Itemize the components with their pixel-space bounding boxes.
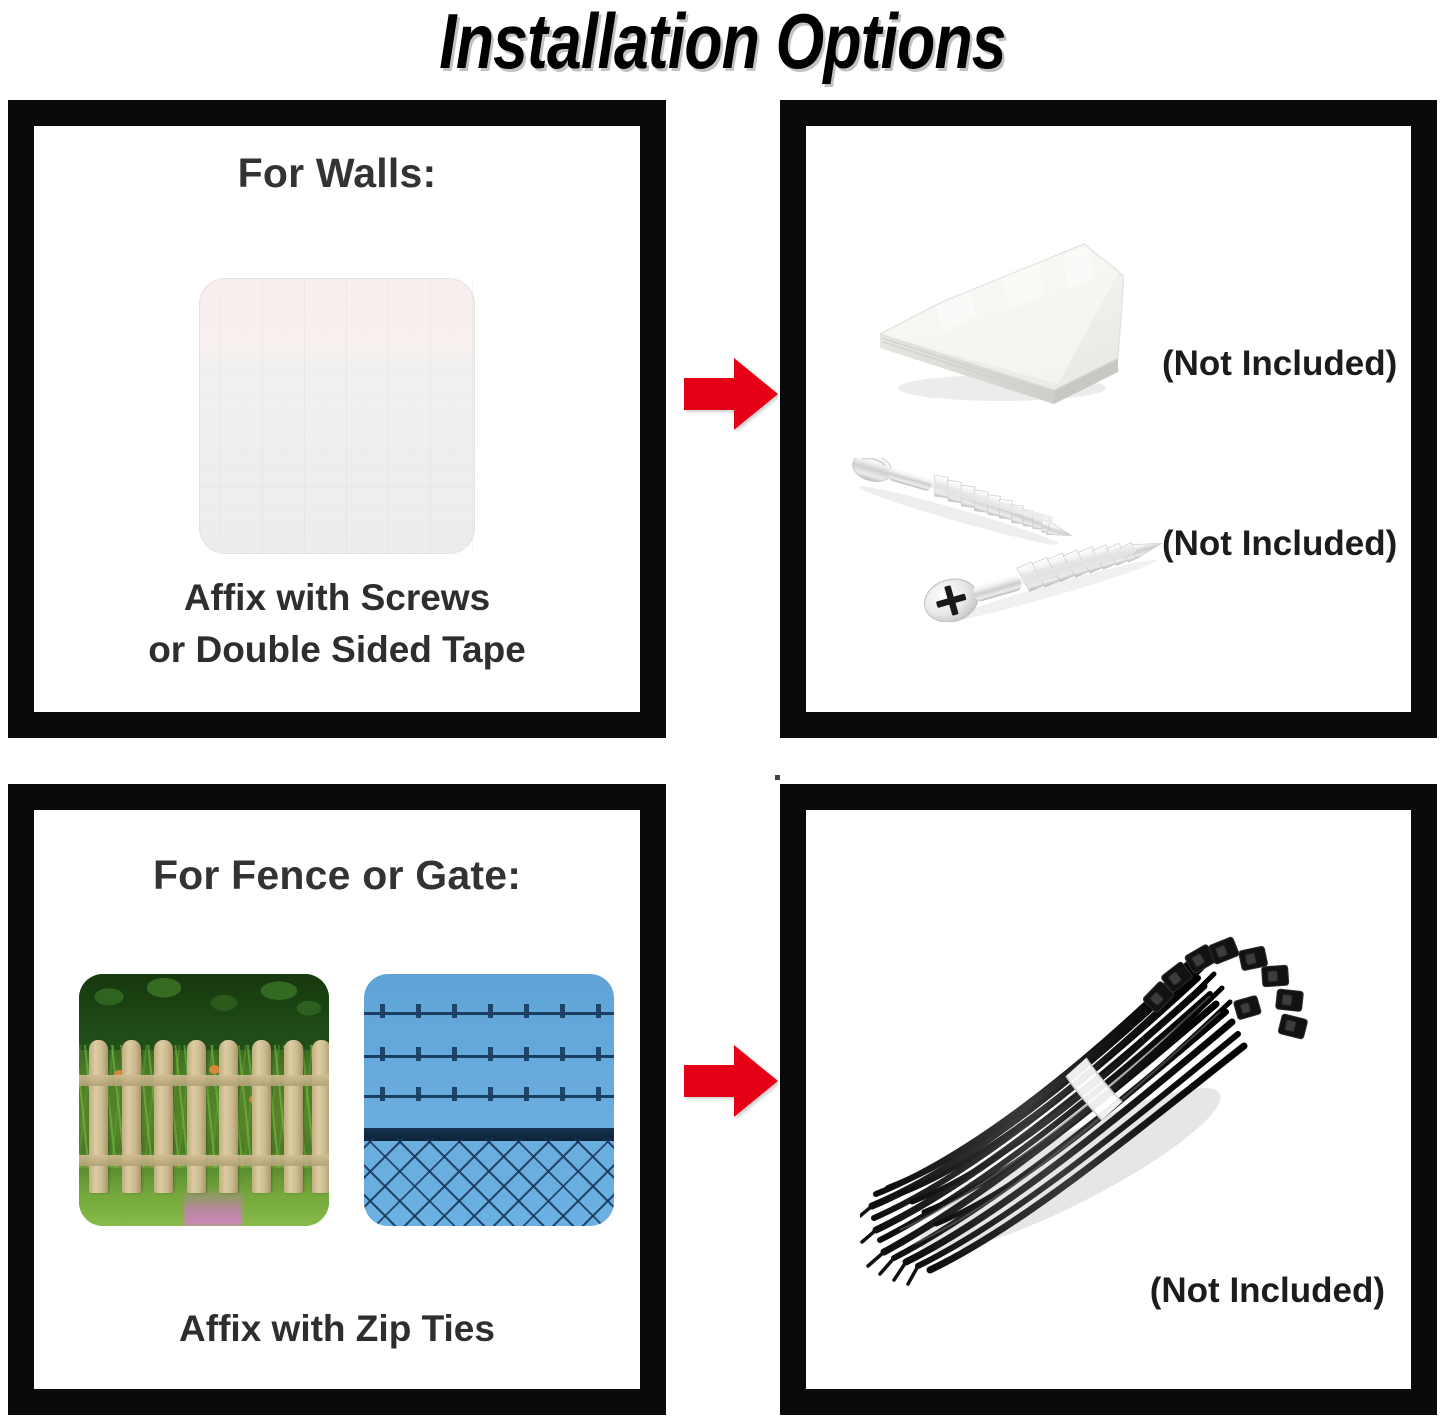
white-brick-wall-image: [199, 278, 475, 554]
caption-line-2: or Double Sided Tape: [34, 624, 640, 676]
screw-lower-image: [918, 530, 1170, 622]
panel-caption-fence: Affix with Zip Ties: [34, 1303, 640, 1355]
panel-heading-walls: For Walls:: [34, 150, 640, 197]
panel-heading-fence: For Fence or Gate:: [34, 852, 640, 899]
panel-for-walls: For Walls: Affix with Screws or Double S…: [8, 100, 666, 738]
installation-options-infographic: Installation Options For Walls: Affix wi…: [0, 0, 1445, 1422]
page-title: Installation Options: [145, 0, 1301, 86]
double-sided-tape-stack-image: [872, 238, 1124, 406]
scan-artifact-speck: [775, 775, 780, 780]
picket-fence-photo: [79, 974, 329, 1226]
panel-for-fence-or-gate: For Fence or Gate:: [8, 784, 666, 1415]
panel-zip-ties: (Not Included): [780, 784, 1437, 1415]
caption-line-1: Affix with Screws: [34, 572, 640, 624]
chain-link-fence-photo: [364, 974, 614, 1226]
panel-wall-hardware: (Not Included): [780, 100, 1437, 738]
red-right-arrow-icon: [684, 355, 778, 433]
red-right-arrow-icon: [684, 1042, 778, 1120]
panel-caption-walls: Affix with Screws or Double Sided Tape: [34, 572, 640, 676]
zip-tie-bundle-image: [860, 900, 1312, 1288]
screws-not-included-label: (Not Included): [1162, 524, 1397, 564]
tape-not-included-label: (Not Included): [1162, 344, 1397, 384]
zipties-not-included-label: (Not Included): [1150, 1271, 1385, 1311]
